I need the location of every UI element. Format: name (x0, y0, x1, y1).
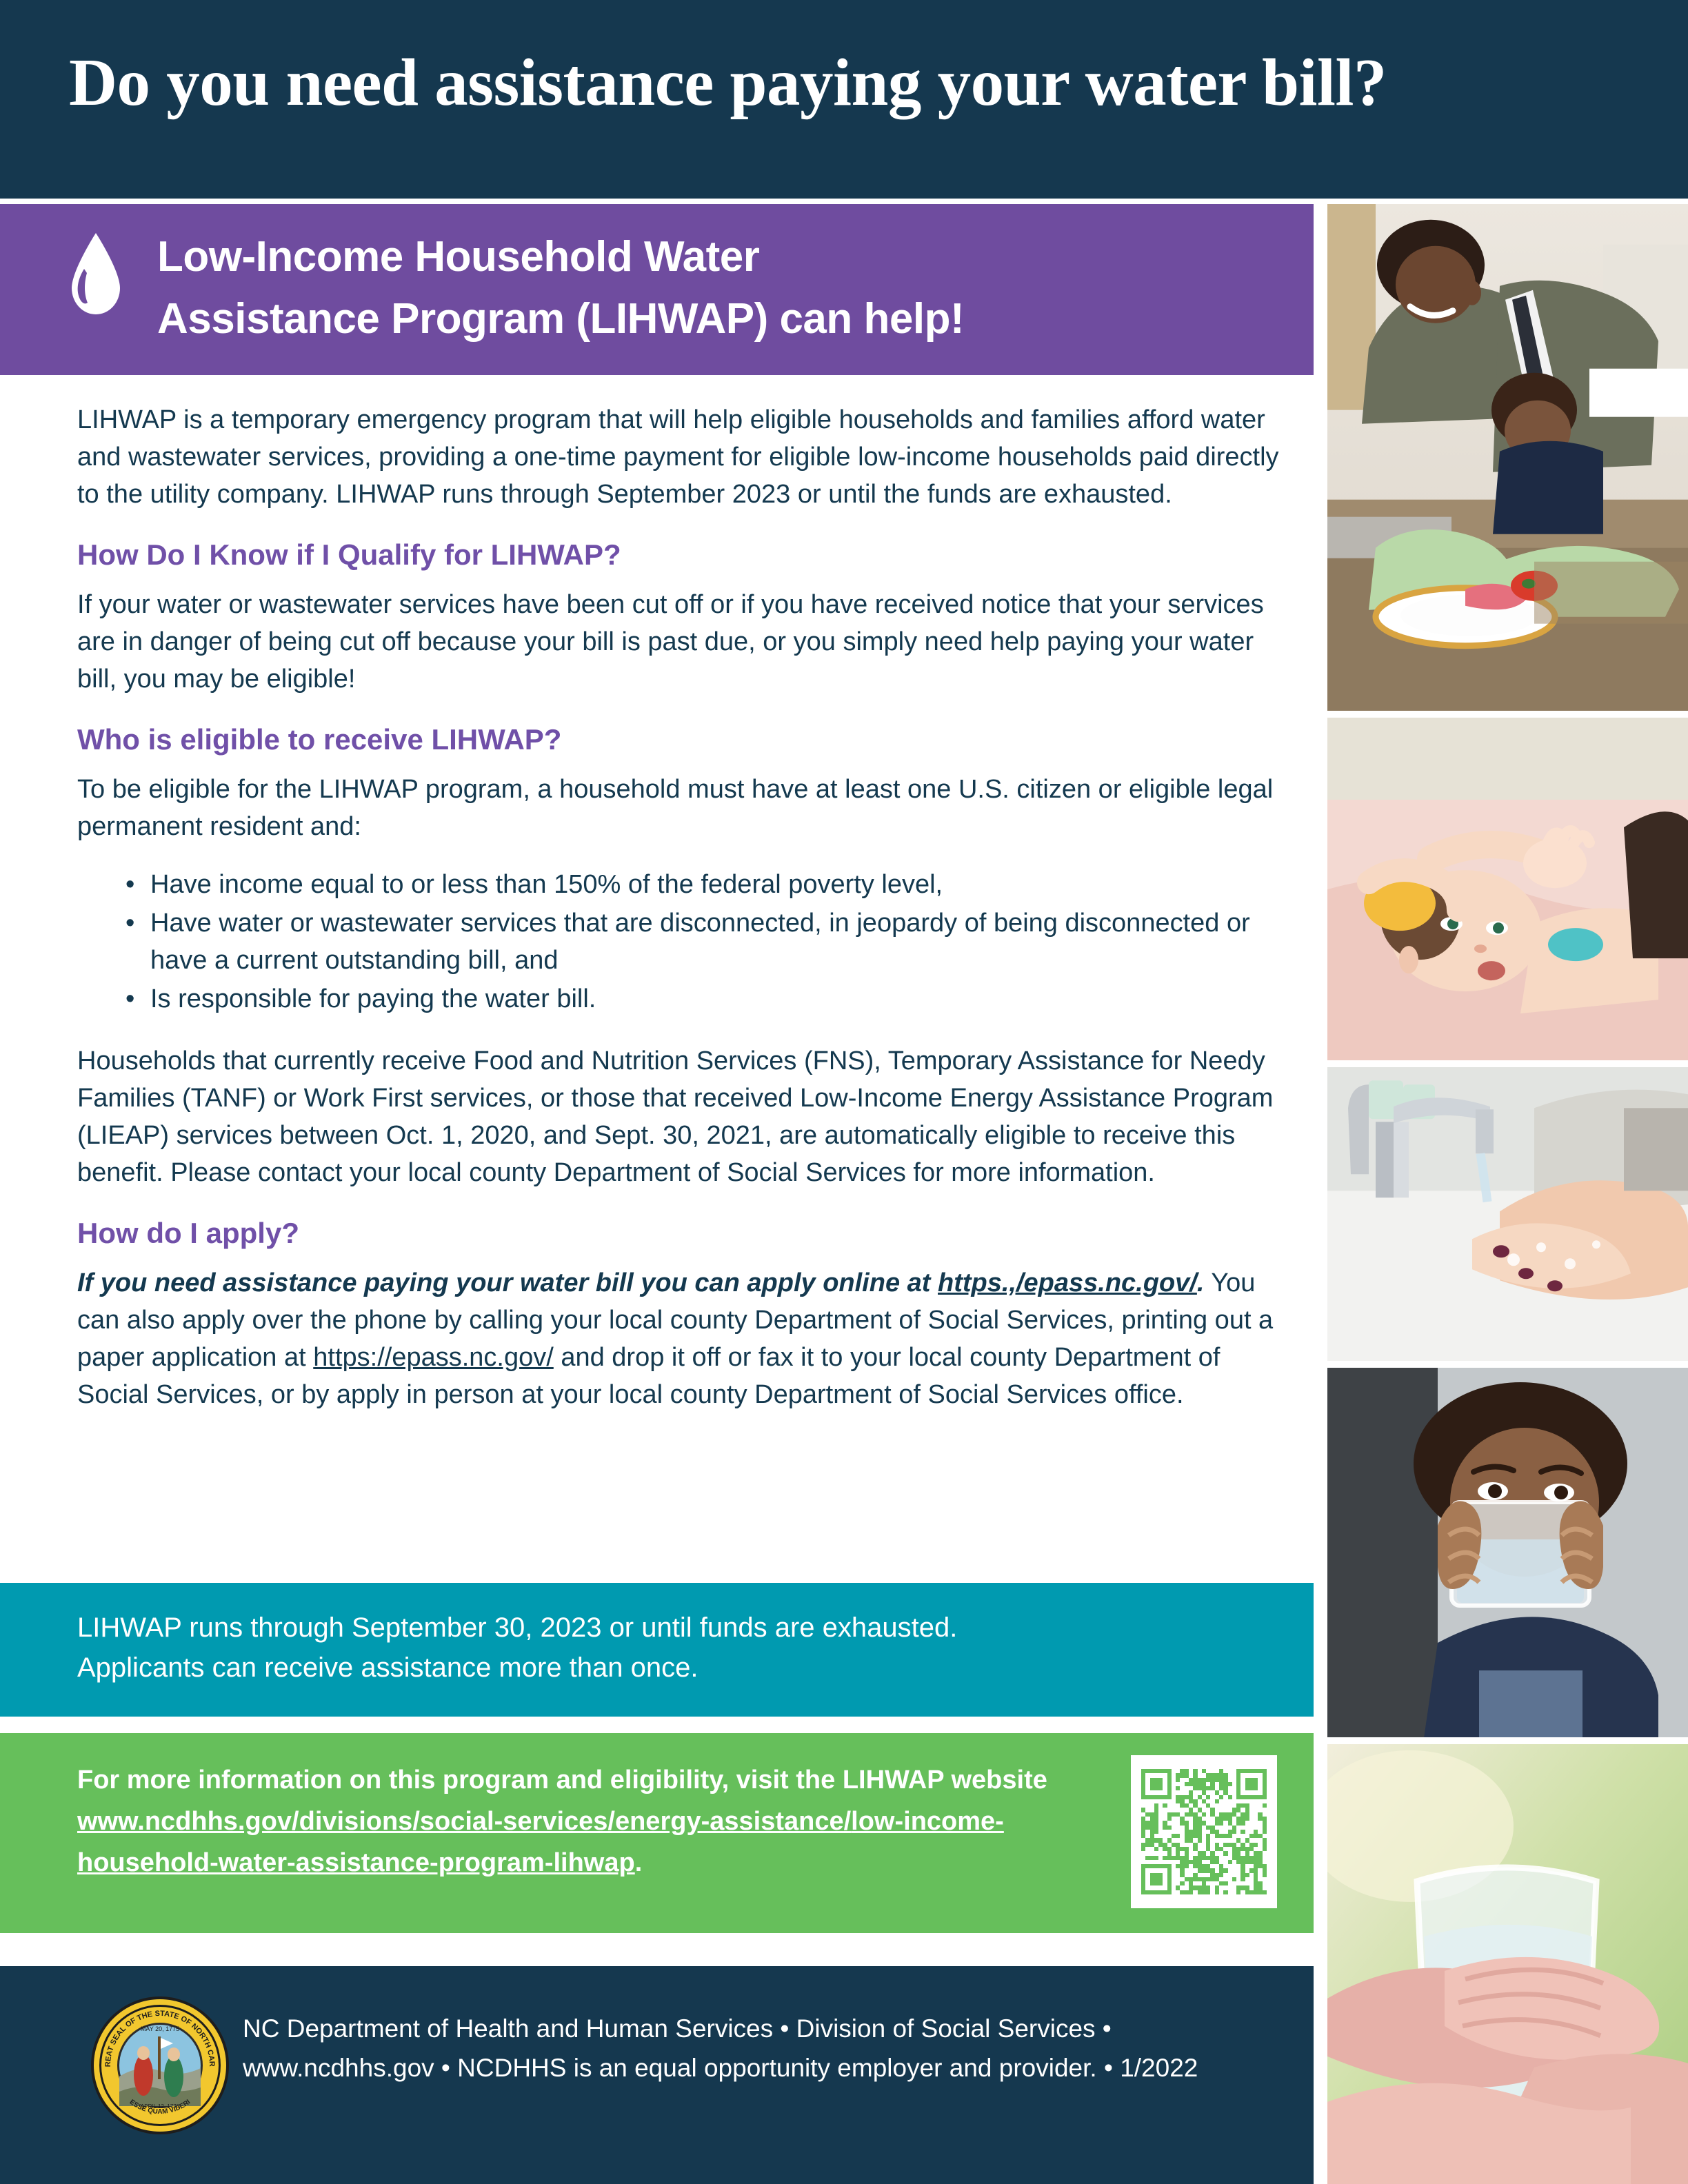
photo-hands-holding-glass-of-water (1327, 1744, 1688, 2184)
photo-hand-washing-at-faucet (1327, 1067, 1688, 1362)
qualify-paragraph: If your water or wastewater services hav… (77, 586, 1291, 698)
heading-qualify: How Do I Know if I Qualify for LIHWAP? (77, 536, 1291, 574)
green-callout-lead: For more information on this program and… (77, 1766, 1047, 1794)
teal-callout-line1: LIHWAP runs through September 30, 2023 o… (77, 1608, 1249, 1648)
program-banner: Low-Income Household Water Assistance Pr… (0, 204, 1314, 375)
page-footer: MAY 20, 1775 APRIL 12, 1776 THE GREAT SE… (0, 1966, 1314, 2184)
north-carolina-state-seal-icon: MAY 20, 1775 APRIL 12, 1776 THE GREAT SE… (90, 1995, 230, 2136)
program-banner-line2: Assistance Program (LIHWAP) can help! (157, 288, 1281, 350)
list-item: Is responsible for paying the water bill… (125, 980, 1291, 1018)
qr-code[interactable] (1131, 1755, 1277, 1908)
photo-baby-bath (1327, 718, 1688, 1060)
content-column: Low-Income Household Water Assistance Pr… (0, 204, 1314, 2184)
auto-eligible-paragraph: Households that currently receive Food a… (77, 1042, 1291, 1191)
heading-eligible: Who is eligible to receive LIHWAP? (77, 721, 1291, 758)
eligibility-bullet-list: Have income equal to or less than 150% o… (77, 866, 1291, 1018)
teal-callout-text: LIHWAP runs through September 30, 2023 o… (77, 1608, 1249, 1688)
svg-text:MAY 20, 1775: MAY 20, 1775 (141, 2025, 179, 2032)
green-callout-trailing: . (635, 1848, 643, 1877)
footer-text: NC Department of Health and Human Servic… (243, 2009, 1229, 2087)
list-item: Have water or wastewater services that a… (125, 904, 1291, 979)
list-item: Have income equal to or less than 150% o… (125, 866, 1291, 903)
water-droplet-icon (70, 233, 121, 314)
body-copy: LIHWAP is a temporary emergency program … (77, 401, 1291, 1437)
epass-link-italic[interactable]: https.,/epass.nc.gov/ (938, 1268, 1197, 1297)
green-callout: For more information on this program and… (0, 1733, 1314, 1933)
program-banner-title: Low-Income Household Water Assistance Pr… (157, 226, 1281, 350)
photo-father-and-child-washing-dishes (1327, 204, 1688, 711)
epass-link[interactable]: https://epass.nc.gov/ (313, 1343, 554, 1372)
page-title: Do you need assistance paying your water… (69, 41, 1627, 124)
heading-apply: How do I apply? (77, 1215, 1291, 1252)
apply-lead-period: . (1197, 1268, 1205, 1297)
lihwap-website-link-line1[interactable]: www.ncdhhs.gov/divisions/social-services… (77, 1807, 851, 1836)
program-banner-line1: Low-Income Household Water (157, 226, 1281, 288)
qr-code-grid (1141, 1769, 1267, 1894)
eligible-paragraph: To be eligible for the LIHWAP program, a… (77, 771, 1291, 845)
teal-callout-line2: Applicants can receive assistance more t… (77, 1648, 1249, 1688)
apply-lead-text: If you need assistance paying your water… (77, 1268, 938, 1297)
page-header: Do you need assistance paying your water… (0, 0, 1688, 199)
green-callout-text: For more information on this program and… (77, 1759, 1105, 1883)
photo-boy-drinking-glass-of-water (1327, 1368, 1688, 1737)
intro-paragraph: LIHWAP is a temporary emergency program … (77, 401, 1291, 513)
apply-paragraph: If you need assistance paying your water… (77, 1264, 1291, 1413)
spacer (77, 1019, 1291, 1042)
teal-callout: LIHWAP runs through September 30, 2023 o… (0, 1583, 1314, 1717)
photo-column (1327, 204, 1688, 2184)
